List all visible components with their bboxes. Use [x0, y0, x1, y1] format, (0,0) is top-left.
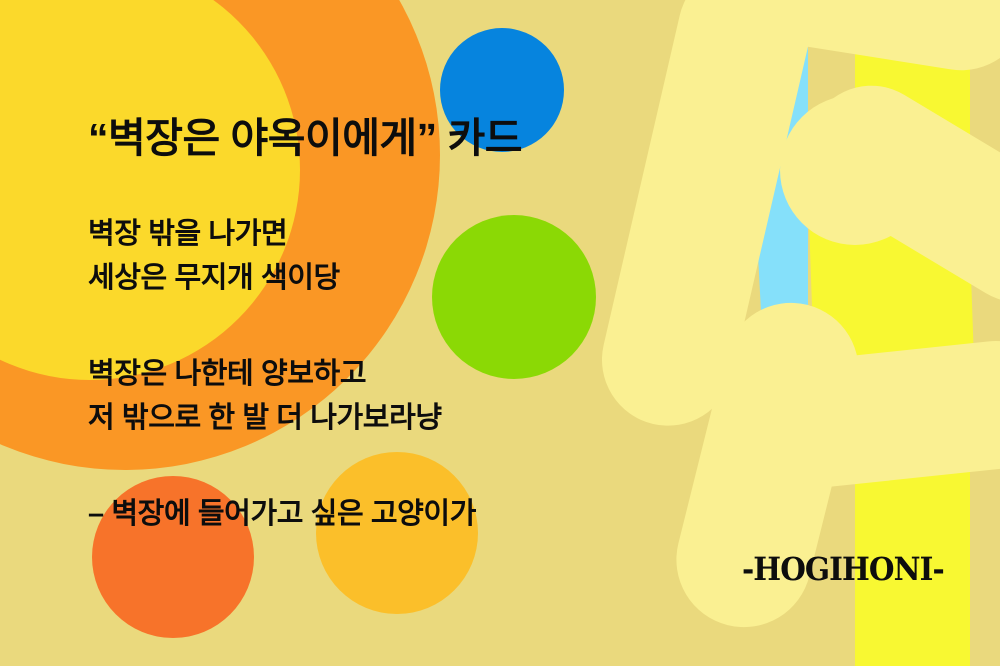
poem-line: 벽장 밖을 나가면 — [88, 212, 340, 256]
poem-line: 벽장은 나한테 양보하고 — [88, 352, 442, 396]
poem-attribution: – 벽장에 들어가고 싶은 고양이가 — [88, 490, 476, 532]
text-layer: “벽장은 야옥이에게” 카드 벽장 밖을 나가면 세상은 무지개 색이당 벽장은… — [0, 0, 1000, 666]
artist-signature: -HOGIHONI- — [742, 550, 944, 588]
poster-headline: “벽장은 야옥이에게” 카드 — [88, 104, 522, 164]
poem-line: 세상은 무지개 색이당 — [88, 256, 340, 300]
poem-stanza-second: 벽장은 나한테 양보하고 저 밖으로 한 발 더 나가보라냥 — [88, 352, 442, 440]
poem-stanza-first: 벽장 밖을 나가면 세상은 무지개 색이당 — [88, 212, 340, 300]
poster-card: “벽장은 야옥이에게” 카드 벽장 밖을 나가면 세상은 무지개 색이당 벽장은… — [0, 0, 1000, 666]
poem-line: 저 밖으로 한 발 더 나가보라냥 — [88, 396, 442, 440]
